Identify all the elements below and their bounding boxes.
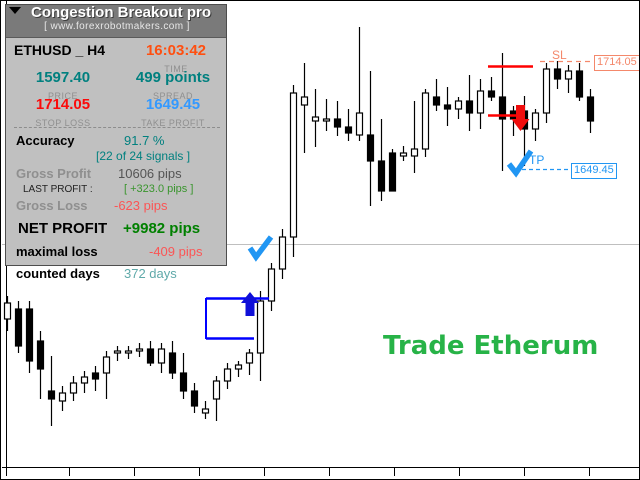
signals-value: [22 of 24 signals ]: [96, 149, 190, 163]
candle-body: [93, 373, 99, 379]
candle-body: [456, 101, 462, 109]
counted-days-label: counted days: [16, 266, 100, 281]
candle-body: [214, 381, 220, 399]
counted-days-value: 372 days: [124, 266, 177, 281]
candle-body: [225, 369, 231, 381]
accuracy-value: 91.7 %: [124, 133, 164, 148]
info-panel[interactable]: Congestion Breakout pro [ www.forexrobot…: [5, 4, 227, 266]
net-profit-label: NET PROFIT: [18, 220, 107, 237]
candle-body: [478, 91, 484, 113]
arrow-up-icon: [241, 292, 259, 316]
candle-body: [346, 127, 352, 133]
sl-price-box[interactable]: 1714.05: [594, 55, 640, 71]
panel-title: Congestion Breakout pro: [14, 4, 228, 21]
candle-body: [236, 365, 242, 369]
time-axis-ticks: [7, 467, 590, 476]
gross-profit-value: 10606 pips: [118, 166, 182, 181]
candle-body: [5, 303, 11, 319]
candle-body: [324, 119, 330, 121]
candle-body: [335, 119, 341, 127]
candle-body: [379, 161, 385, 191]
take-profit-value: 1649.45: [146, 96, 200, 113]
time-value: 16:03:42: [146, 42, 206, 59]
last-profit-value: [ +323.0 pips ]: [124, 183, 193, 195]
chart-watermark: Trade Etherum: [383, 331, 598, 361]
max-loss-label: maximal loss: [16, 244, 98, 259]
candle-body: [489, 91, 495, 97]
candle-body: [49, 391, 55, 399]
tp-tag-label: TP: [529, 153, 544, 167]
panel-body: ETHUSD _ H4 16:03:42 TIME 1597.40 499 po…: [6, 38, 226, 268]
candle-body: [577, 71, 583, 97]
symbol-label: ETHUSD _ H4: [14, 42, 105, 58]
candle-body: [368, 135, 374, 161]
candle-body: [280, 237, 286, 269]
candle-body: [302, 97, 308, 105]
stop-loss-value: 1714.05: [36, 96, 90, 113]
candle-body: [104, 357, 110, 373]
candle-body: [291, 93, 297, 237]
candle-body: [247, 353, 253, 363]
candle-body: [390, 153, 396, 191]
check-icon-tp: [509, 151, 531, 173]
candle-body: [313, 117, 319, 121]
candle-body: [412, 149, 418, 156]
candle-body: [192, 391, 198, 406]
accuracy-label: Accuracy: [16, 133, 75, 148]
candle-body: [137, 349, 143, 351]
candle-body: [71, 383, 77, 393]
candle-body: [445, 105, 451, 109]
candle-body: [170, 353, 176, 373]
candle-body: [126, 351, 132, 353]
max-loss-value: -409 pips: [149, 244, 202, 259]
candle-body: [203, 409, 209, 413]
candle-body: [60, 393, 66, 401]
candle-body: [423, 93, 429, 149]
candle-body: [544, 69, 550, 113]
candle-body: [533, 113, 539, 129]
candle-body: [588, 97, 594, 121]
candle-body: [16, 309, 22, 346]
candle-body: [27, 309, 33, 361]
spread-value: 499 points: [136, 69, 210, 86]
sl-tag-label: SL: [552, 48, 567, 62]
candle-body: [258, 301, 264, 353]
panel-divider: [14, 127, 220, 128]
check-icon-buy: [250, 237, 271, 257]
tp-price-box[interactable]: 1649.45: [571, 163, 617, 179]
price-value: 1597.40: [36, 69, 90, 86]
candle-body: [434, 97, 440, 105]
candle-body: [566, 71, 572, 79]
panel-subtitle: [ www.forexrobotmakers.com ]: [6, 21, 228, 32]
candle-body: [115, 351, 121, 353]
candle-body: [401, 153, 407, 156]
candle-body: [38, 341, 44, 369]
candle-body: [148, 349, 154, 363]
net-profit-value: +9982 pips: [123, 220, 200, 237]
candle-body: [269, 269, 275, 301]
last-profit-label: LAST PROFIT :: [23, 184, 93, 195]
candle-body: [555, 69, 561, 79]
gross-loss-value: -623 pips: [114, 198, 167, 213]
panel-titlebar[interactable]: Congestion Breakout pro [ www.forexrobot…: [6, 5, 226, 38]
trading-terminal-window: SL 1714.05 TP 1649.45 Trade Etherum Cong…: [0, 0, 640, 480]
gross-profit-label: Gross Profit: [16, 166, 91, 181]
gross-loss-label: Gross Loss: [16, 198, 88, 213]
candle-body: [82, 377, 88, 383]
candle-body: [181, 373, 187, 391]
candle-body: [467, 101, 473, 113]
candle-body: [357, 113, 363, 135]
candle-body: [159, 349, 165, 363]
